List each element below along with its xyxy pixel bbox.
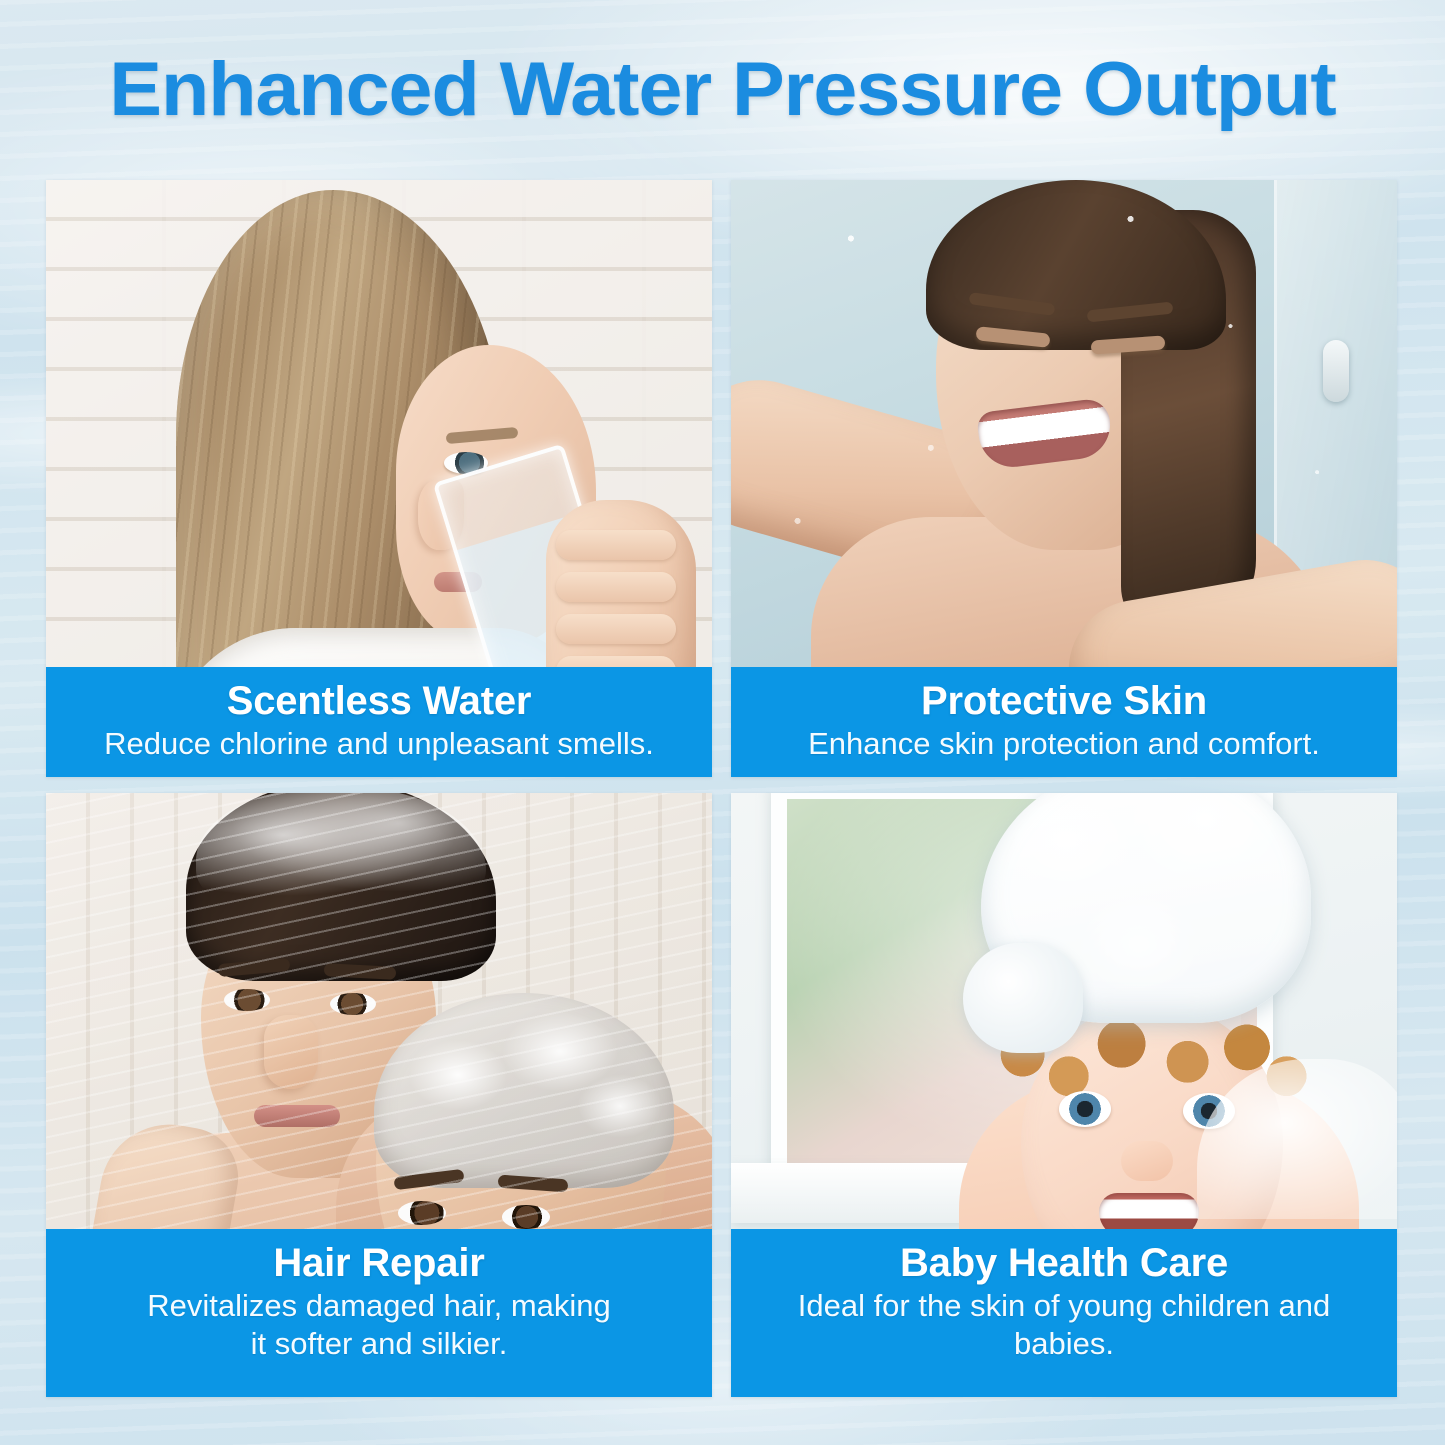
caption-title: Hair Repair — [60, 1239, 698, 1287]
infographic-page: Enhanced Water Pressure Output — [0, 0, 1445, 1445]
caption-subtitle: Ideal for the skin of young children and… — [745, 1287, 1383, 1363]
shower-spray — [46, 793, 712, 1229]
benefit-card-scentless-water[interactable]: Scentless Water Reduce chlorine and unpl… — [46, 180, 712, 777]
photo-baby-with-foam — [731, 793, 1397, 1229]
foam-blob — [963, 943, 1083, 1053]
benefit-card-grid: Scentless Water Reduce chlorine and unpl… — [46, 180, 1397, 1397]
girl-finger-3 — [556, 614, 676, 644]
caption-subtitle: Enhance skin protection and comfort. — [745, 725, 1383, 763]
benefit-card-baby-health-care[interactable]: Baby Health Care Ideal for the skin of y… — [731, 793, 1397, 1397]
baby-smiling-mouth — [1099, 1193, 1199, 1229]
caption-subtitle: Reduce chlorine and unpleasant smells. — [60, 725, 698, 763]
caption-protective-skin: Protective Skin Enhance skin protection … — [731, 667, 1397, 777]
baby-left-eye — [1059, 1091, 1111, 1127]
photo-woman-in-shower — [731, 180, 1397, 667]
benefit-card-hair-repair[interactable]: Hair Repair Revitalizes damaged hair, ma… — [46, 793, 712, 1397]
photo-girl-drinking-water — [46, 180, 712, 667]
photo-couple-shampooing — [46, 793, 712, 1229]
caption-scentless-water: Scentless Water Reduce chlorine and unpl… — [46, 667, 712, 777]
caption-title: Scentless Water — [60, 677, 698, 725]
benefit-card-protective-skin[interactable]: Protective Skin Enhance skin protection … — [731, 180, 1397, 777]
caption-hair-repair: Hair Repair Revitalizes damaged hair, ma… — [46, 1229, 712, 1397]
baby-nose — [1121, 1141, 1173, 1181]
caption-title: Baby Health Care — [745, 1239, 1383, 1287]
caption-subtitle-line-2: it softer and silkier. — [60, 1325, 698, 1363]
caption-baby-health-care: Baby Health Care Ideal for the skin of y… — [731, 1229, 1397, 1397]
page-title: Enhanced Water Pressure Output — [0, 44, 1445, 136]
girl-finger-1 — [556, 530, 676, 560]
caption-title: Protective Skin — [745, 677, 1383, 725]
girl-finger-2 — [556, 572, 676, 602]
water-droplets — [731, 180, 1397, 667]
caption-subtitle-line-1: Revitalizes damaged hair, making — [60, 1287, 698, 1325]
girl-finger-4 — [556, 656, 676, 667]
